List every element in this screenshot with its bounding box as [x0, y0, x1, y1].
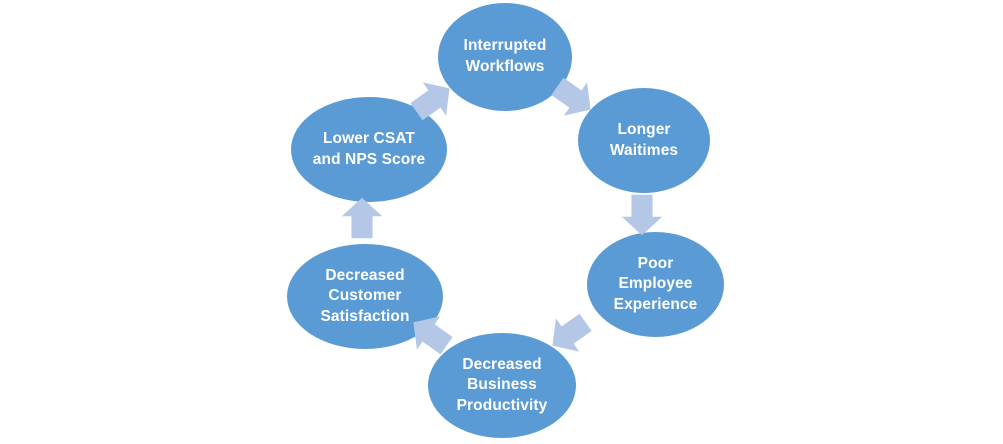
node-longer-waitimes[interactable]: Longer Waitimes — [578, 88, 710, 193]
node-label-longer-waitimes: Longer Waitimes — [602, 120, 686, 161]
node-label-decreased-business-productivity: Decreased Business Productivity — [449, 355, 556, 417]
node-label-decreased-customer-satisfaction: Decreased Customer Satisfaction — [312, 266, 417, 328]
node-label-lower-csat-and-nps-score: Lower CSAT and NPS Score — [305, 129, 433, 170]
node-label-interrupted-workflows: Interrupted Workflows — [456, 36, 555, 77]
node-poor-employee-experience[interactable]: Poor Employee Experience — [587, 232, 724, 337]
cycle-diagram-canvas: Interrupted WorkflowsLonger WaitimesPoor… — [0, 0, 1003, 444]
node-label-poor-employee-experience: Poor Employee Experience — [606, 254, 706, 316]
arrow-waitimes-to-employee-icon — [620, 193, 664, 237]
arrow-customer-to-csat-icon — [340, 196, 384, 240]
